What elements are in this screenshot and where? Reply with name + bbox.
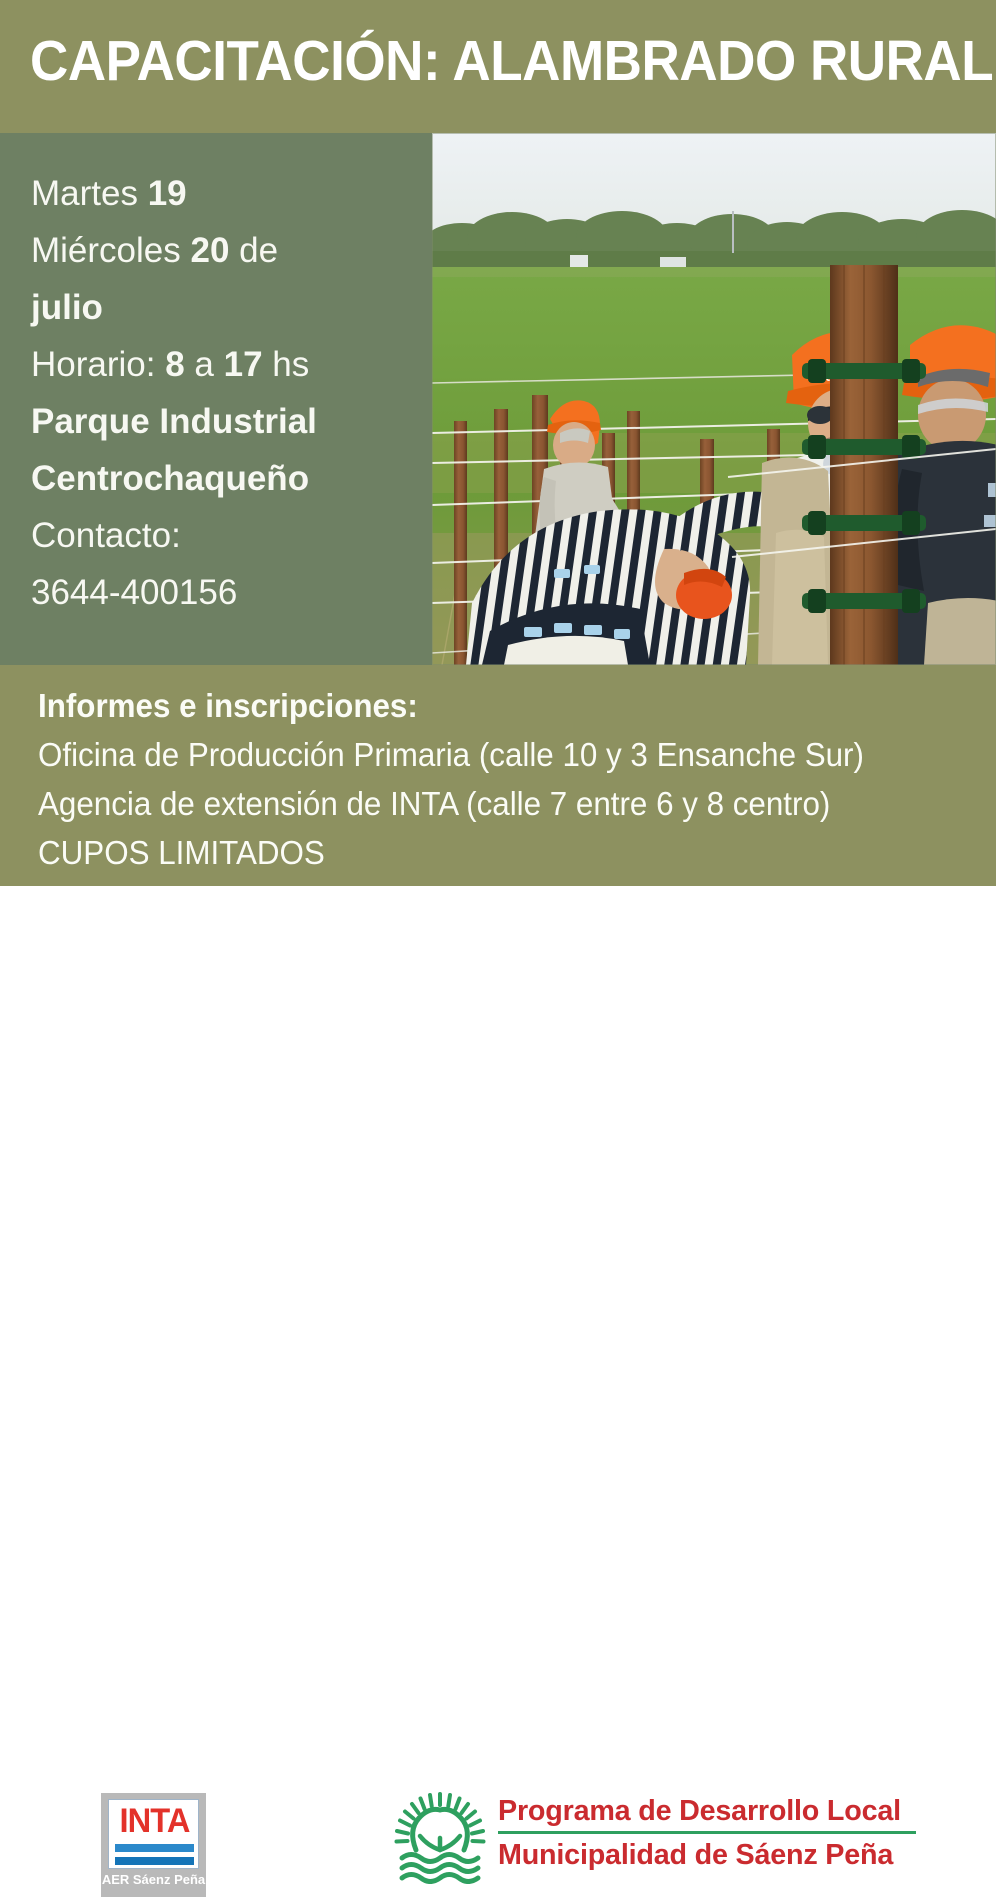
municipal-logo-text: Programa de Desarrollo Local Municipalid… — [498, 1792, 918, 1874]
municipal-line-1: Programa de Desarrollo Local — [498, 1792, 914, 1830]
info-line-venue-2: Centrochaqueño — [31, 450, 421, 507]
photo-illustration: acindar — [432, 133, 996, 665]
poster-root: CAPACITACIÓN: ALAMBRADO RURAL Martes 19M… — [0, 0, 996, 1022]
info-text-run: Contacto: — [31, 516, 181, 555]
info-text-run: Centrochaqueño — [31, 459, 309, 498]
notice-band: Informes e inscripciones:Oficina de Prod… — [0, 665, 996, 886]
info-line-day-2: Miércoles 20 de — [31, 222, 421, 279]
info-line-contact-label: Contacto: — [31, 507, 421, 564]
info-text-run: julio — [31, 288, 103, 327]
info-text-run: Miércoles — [31, 231, 190, 270]
info-text-run: 8 — [165, 345, 184, 384]
notice-heading: Informes e inscripciones: — [38, 681, 941, 730]
municipal-rule — [498, 1831, 916, 1834]
event-photo: acindar — [432, 133, 996, 665]
notice-cupos: CUPOS LIMITADOS — [38, 828, 941, 877]
info-line-day-1: Martes 19 — [31, 165, 421, 222]
info-text-run: 19 — [148, 174, 187, 213]
info-text-run: Horario: — [31, 345, 165, 384]
info-line-venue-1: Parque Industrial — [31, 393, 421, 450]
inta-logo: INTA AER Sáenz Peña — [101, 1793, 206, 1897]
municipal-line-2: Municipalidad de Sáenz Peña — [498, 1836, 914, 1874]
cotton-boll-sun-water-emblem — [392, 1788, 488, 1884]
info-text-run: de — [229, 231, 278, 270]
event-info-lines: Martes 19Miércoles 20 dejulioHorario: 8 … — [31, 165, 421, 621]
info-line-schedule: Horario: 8 a 17 hs — [31, 336, 421, 393]
page-title: CAPACITACIÓN: ALAMBRADO RURAL — [30, 28, 993, 94]
event-info-panel: Martes 19Miércoles 20 dejulioHorario: 8 … — [0, 133, 432, 665]
info-text-run: hs — [263, 345, 310, 384]
inta-wordmark: INTA — [111, 1802, 198, 1840]
inta-logo-frame: INTA — [108, 1799, 199, 1869]
header-band: CAPACITACIÓN: ALAMBRADO RURAL — [0, 0, 996, 133]
notice-inta: Agencia de extensión de INTA (calle 7 en… — [38, 779, 941, 828]
info-text-run: 3644-400156 — [31, 573, 237, 612]
inta-bar-top — [115, 1844, 194, 1852]
info-text-run: 20 — [190, 231, 229, 270]
notice-office: Oficina de Producción Primaria (calle 10… — [38, 730, 941, 779]
info-text-run: Parque Industrial — [31, 402, 317, 441]
footer: INTA AER Sáenz Peña — [0, 886, 996, 1022]
info-text-run: Martes — [31, 174, 148, 213]
inta-caption: AER Sáenz Peña — [101, 1872, 206, 1888]
notice-lines: Informes e inscripciones:Oficina de Prod… — [38, 681, 988, 877]
info-text-run: 17 — [224, 345, 263, 384]
info-text-run: a — [185, 345, 224, 384]
info-line-contact-phone: 3644-400156 — [31, 564, 421, 621]
inta-bar-bottom — [115, 1857, 194, 1865]
info-line-month: julio — [31, 279, 421, 336]
municipal-logo: Programa de Desarrollo Local Municipalid… — [392, 1786, 922, 1889]
